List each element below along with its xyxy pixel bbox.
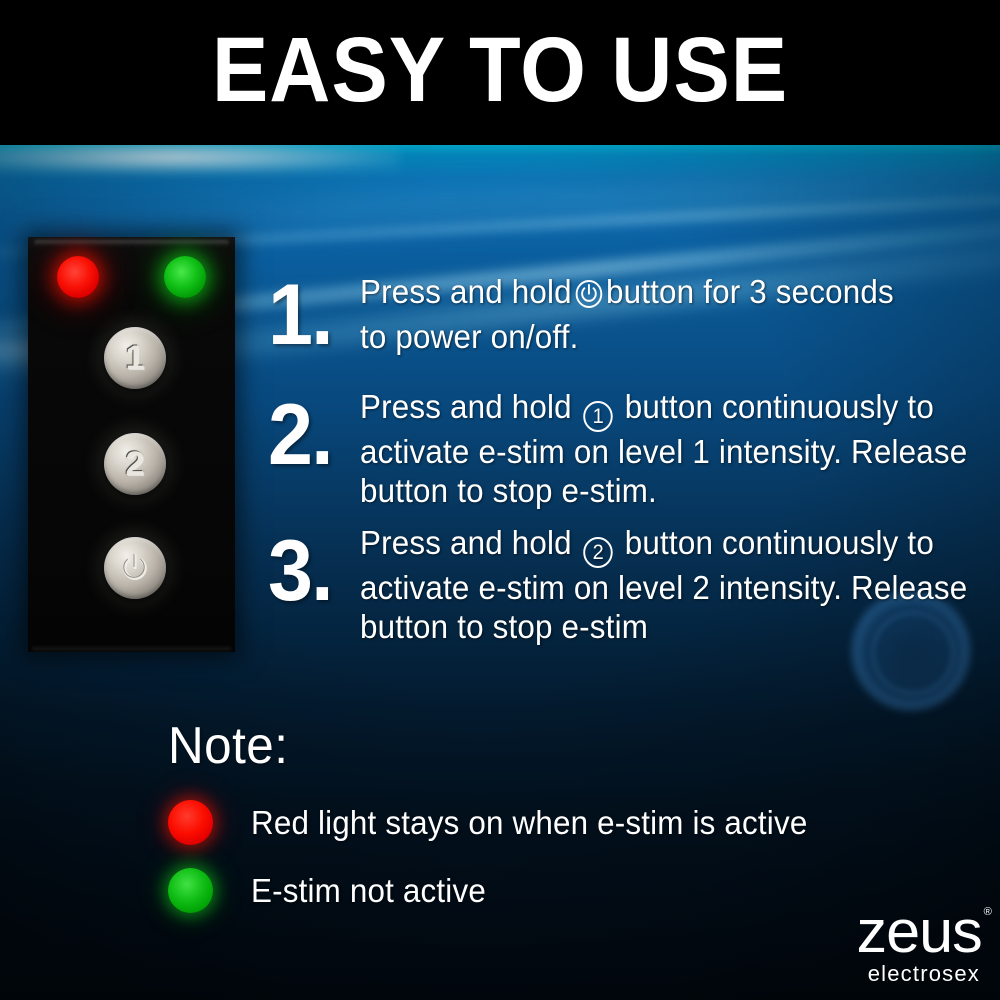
step-3-number: 3.	[268, 528, 332, 614]
note-row-green: E-stim not active	[168, 868, 498, 913]
brand-logo-tagline: electrosex	[859, 962, 980, 986]
instruction-steps: 1. Press and holdbutton for 3 seconds to…	[0, 0, 1000, 1000]
step-2-text-before: Press and hold	[360, 388, 572, 425]
step-3-line-3: button to stop e-stim	[360, 607, 968, 646]
page-title: EASY TO USE	[40, 22, 960, 118]
power-icon	[575, 278, 604, 317]
step-2-line-3: button to stop e-stim.	[360, 471, 968, 510]
circled-1-icon: 1	[584, 401, 613, 432]
brand-logo-name: zeus®	[857, 903, 982, 961]
step-1-text-after: button for 3 seconds	[606, 273, 894, 310]
brand-logo: zeus® electrosex	[859, 903, 982, 986]
header-bar: EASY TO USE	[0, 0, 1000, 145]
step-2-number: 2.	[268, 392, 332, 478]
circled-2-icon: 2	[584, 537, 613, 568]
red-led-dot	[168, 800, 213, 845]
step-1-number: 1.	[268, 272, 332, 358]
step-1-line-2: to power on/off.	[360, 317, 949, 356]
note-row-red: Red light stays on when e-stim is active	[168, 800, 837, 845]
step-2-line-2: activate e-stim on level 1 intensity. Re…	[360, 432, 968, 471]
step-2-text: Press and hold 1 button continuously to …	[360, 387, 968, 510]
green-led-dot	[168, 868, 213, 913]
step-3-text-before: Press and hold	[360, 524, 572, 561]
registered-mark-icon: ®	[984, 907, 991, 918]
step-1-text-before: Press and hold	[360, 273, 572, 310]
step-3-text: Press and hold 2 button continuously to …	[360, 523, 968, 646]
note-row-green-text: E-stim not active	[251, 872, 486, 910]
brand-logo-wordmark: zeus	[857, 898, 982, 965]
step-3-text-after: button continuously to	[625, 524, 934, 561]
poster-root: EASY TO USE 1 2 1.	[0, 0, 1000, 1000]
step-2-text-after: button continuously to	[625, 388, 934, 425]
note-title: Note:	[168, 718, 288, 774]
step-1-text: Press and holdbutton for 3 seconds to po…	[360, 272, 949, 356]
note-row-red-text: Red light stays on when e-stim is active	[251, 804, 807, 842]
step-3-line-2: activate e-stim on level 2 intensity. Re…	[360, 568, 968, 607]
